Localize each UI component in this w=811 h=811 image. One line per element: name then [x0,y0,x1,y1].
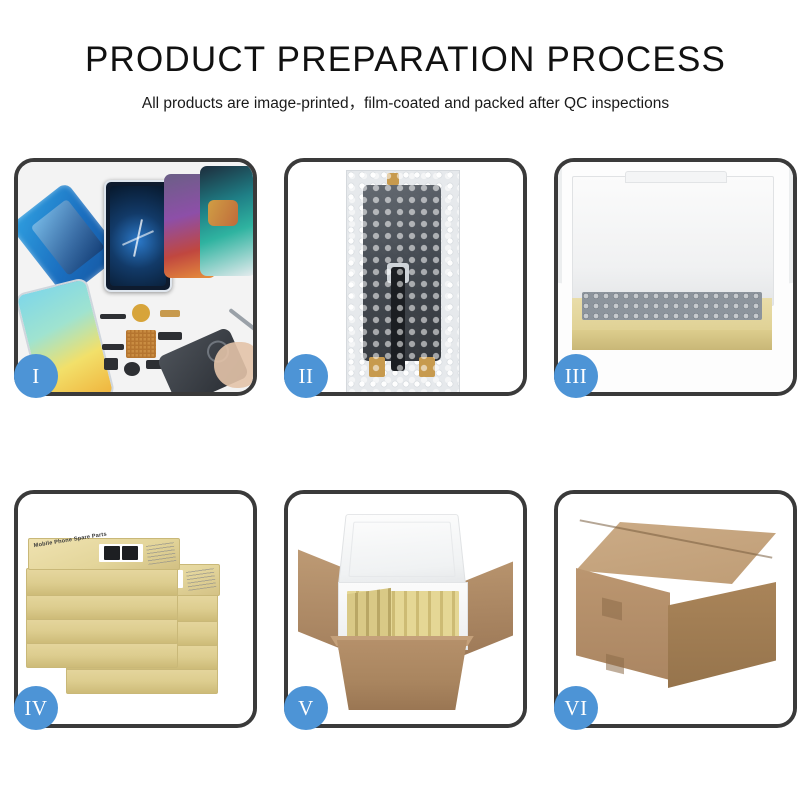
cable-part-icon [102,344,124,350]
carton-right-face-icon [668,582,776,688]
product-preparation-infographic: PRODUCT PREPARATION PROCESS All products… [0,0,811,811]
box-lid-icon [572,176,774,306]
camera-part-icon [104,358,118,370]
bubble-wrap-contents-icon [582,292,762,320]
box-lid-wing-icon [789,165,793,284]
step-image-1 [18,162,253,392]
stacked-box [26,640,178,668]
stacked-box [66,666,218,694]
flex-cable-icon [391,267,405,371]
box-label-window-icon [99,544,143,562]
teal-phone-icon [200,166,253,276]
gold-box-tray-icon [572,298,772,350]
connector-icon [369,357,385,377]
step-card-2: II [284,158,527,396]
stacked-boxes-photo: Mobile Phone Spare Parts Mobile Phone Sp… [18,494,253,724]
step-card-3: III [554,158,797,396]
header: PRODUCT PREPARATION PROCESS All products… [0,0,811,113]
foam-lid-icon [338,514,466,587]
stacked-box [26,568,178,596]
box-front-face-icon [572,330,772,350]
step-badge-5: V [284,686,328,730]
step-badge-4: IV [14,686,58,730]
step-image-4: Mobile Phone Spare Parts Mobile Phone Sp… [18,494,253,724]
inner-box-photo [558,162,793,392]
step-badge-1: I [14,354,58,398]
ribbon-part-icon [158,332,182,340]
sealed-carton-photo [558,494,793,724]
small-parts-group [96,300,253,392]
step-badge-2: II [284,354,328,398]
bubble-wrap-bag-icon [346,170,460,392]
gold-boxes-rows-side-icon [347,588,391,644]
stacked-box-top-back: Mobile Phone Spare Parts [28,538,180,570]
speaker-part-icon [132,304,150,322]
screen-thumb-icon [104,546,120,560]
step-image-5 [288,494,523,724]
stacked-box [26,592,178,620]
box-stack: Mobile Phone Spare Parts Mobile Phone Sp… [26,512,248,712]
carton-front-icon [328,640,476,710]
box-label-lines-icon [146,541,177,565]
screen-thumb-icon [122,546,138,560]
box-lid-wing-icon [558,165,562,284]
step-card-6: VI [554,490,797,728]
hand-icon [214,342,253,388]
step-card-5: V [284,490,527,728]
page-subtitle: All products are image-printed，film-coat… [0,91,811,113]
step-image-3 [558,162,793,392]
step-card-1: I [14,158,257,396]
tweezers-icon [228,308,253,332]
bubble-wrap-photo [288,162,523,392]
flex-part-icon [100,314,126,319]
box-label-lines-icon [186,567,217,591]
step-card-4: Mobile Phone Spare Parts Mobile Phone Sp… [14,490,257,728]
step-image-2 [288,162,523,392]
connector-part-icon [160,310,180,317]
carton-tape-icon [606,654,624,674]
box-lid-tab-icon [625,171,727,183]
step-badge-3: III [554,354,598,398]
connector-icon [387,173,399,185]
foam-carton-photo [288,494,523,724]
steps-grid: I II [14,158,797,730]
step-badge-6: VI [554,686,598,730]
stacked-box [26,616,178,644]
phone-parts-photo [18,162,253,392]
cracked-screen-icon [104,180,172,292]
page-title: PRODUCT PREPARATION PROCESS [0,42,811,79]
button-part-icon [124,362,140,376]
connector-icon [419,357,435,377]
mesh-part-icon [126,330,156,358]
step-image-6 [558,494,793,724]
